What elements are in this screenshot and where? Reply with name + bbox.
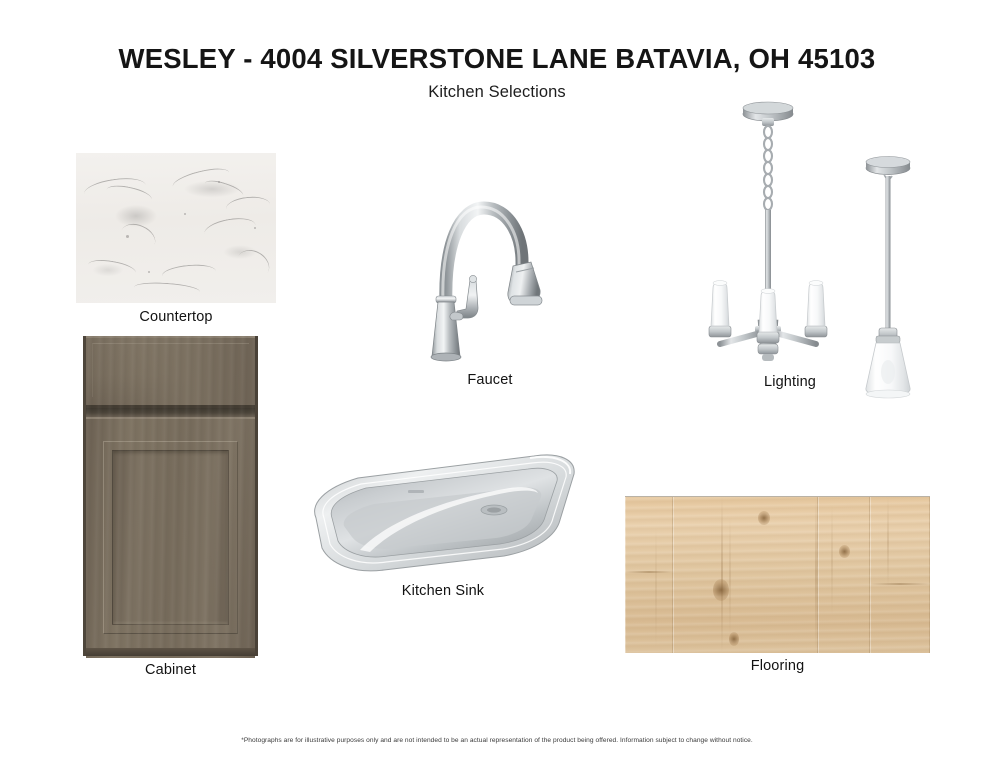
page-title: WESLEY - 4004 SILVERSTONE LANE BATAVIA, … [0, 44, 994, 74]
faucet-icon [400, 178, 580, 370]
lighting-svg [700, 96, 950, 416]
flooring-grain [625, 497, 930, 653]
selection-flooring: Flooring [625, 496, 930, 653]
cabinet-recessed-panel [112, 450, 229, 625]
cabinet-bottom-rail [86, 648, 255, 656]
flooring-swatch-icon [625, 496, 930, 653]
sink-label: Kitchen Sink [298, 583, 588, 599]
cabinet-door-icon [83, 336, 258, 656]
countertop-swatch-icon [76, 153, 276, 303]
selection-cabinet: Cabinet [83, 336, 258, 656]
faucet-svg [400, 178, 580, 370]
flooring-label: Flooring [625, 658, 930, 674]
countertop-label: Countertop [76, 309, 276, 325]
cabinet-panel-frame [103, 441, 238, 634]
cabinet-drawer-front [86, 336, 255, 408]
selection-faucet: Faucet [400, 178, 580, 370]
cabinet-door-front [86, 417, 255, 658]
cabinet-reveal-gap [86, 408, 255, 417]
faucet-label: Faucet [400, 372, 580, 388]
cabinet-label: Cabinet [83, 662, 258, 678]
sink-svg [298, 452, 588, 577]
lighting-label: Lighting [700, 374, 880, 390]
kitchen-sink-icon [298, 452, 588, 577]
lighting-icon [700, 96, 950, 416]
selection-sink: Kitchen Sink [298, 452, 588, 577]
footer-disclaimer: *Photographs are for illustrative purpos… [0, 737, 994, 744]
page-header: WESLEY - 4004 SILVERSTONE LANE BATAVIA, … [0, 44, 994, 102]
selection-sheet: WESLEY - 4004 SILVERSTONE LANE BATAVIA, … [0, 0, 994, 768]
selection-lighting: Lighting [700, 96, 950, 416]
selection-countertop: Countertop [76, 153, 276, 303]
